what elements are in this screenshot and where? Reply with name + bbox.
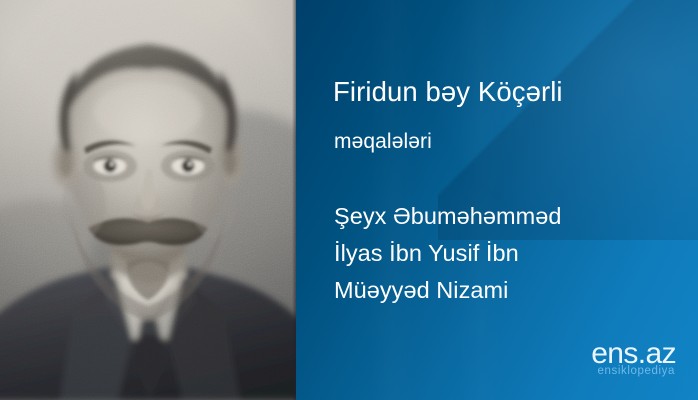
article-title-line: Şeyx Əbuməhəmməd (334, 198, 561, 235)
page-title: Firidun bəy Köçərli (333, 76, 563, 108)
logo-tagline: ensiklopediya (591, 365, 675, 378)
ens-az-logo[interactable]: ens.az ensiklopediya (591, 339, 676, 378)
article-title: Şeyx Əbuməhəmməd İlyas İbn Yusif İbn Müə… (334, 198, 561, 309)
portrait-photo-illustration (0, 0, 296, 400)
article-title-line: İlyas İbn Yusif İbn (334, 235, 561, 272)
article-title-line: Müəyyəd Nizami (334, 272, 561, 309)
portrait-photo (0, 0, 296, 400)
page-subtitle: məqalələri (334, 130, 432, 154)
article-banner-card: Firidun bəy Köçərli məqalələri Şeyx Əbum… (0, 0, 698, 400)
blue-gradient-panel: Firidun bəy Köçərli məqalələri Şeyx Əbum… (296, 0, 698, 400)
